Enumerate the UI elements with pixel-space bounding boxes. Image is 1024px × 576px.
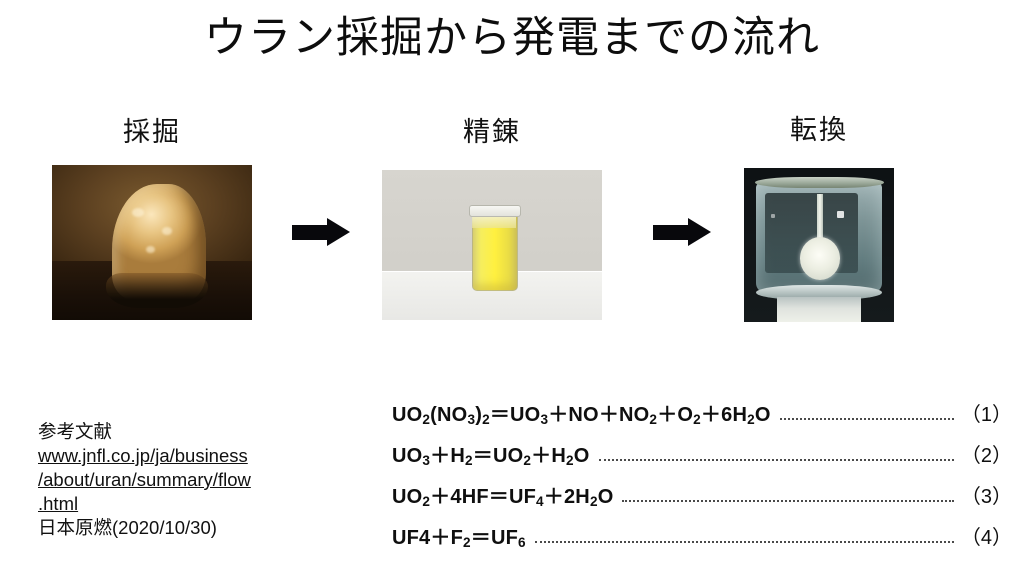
- equation-list: UO2(NO3)2＝UO3＋NO＋NO2＋O2＋6H2O（1）UO3＋H2＝UO…: [392, 398, 1012, 562]
- equation-formula: UO2＋4HF＝UF4＋2H2O: [392, 480, 613, 509]
- equation-row: UF4＋F2＝UF6（4）: [392, 521, 1012, 562]
- right-arrow-icon: [653, 218, 711, 246]
- right-arrow-icon: [292, 218, 350, 246]
- glass-highlight: [771, 214, 775, 218]
- equation-formula: UF4＋F2＝UF6: [392, 521, 526, 550]
- equation-formula: UO2(NO3)2＝UO3＋NO＋NO2＋O2＋6H2O: [392, 398, 771, 427]
- photo-yellowcake-jar: [382, 170, 602, 320]
- ore-highlight-speck: [146, 246, 155, 253]
- equation-number: （3）: [961, 480, 1012, 509]
- page-title: ウラン採掘から発電までの流れ: [0, 12, 1024, 66]
- chamber-top-rim: [755, 177, 884, 188]
- apparatus-base: [777, 297, 861, 322]
- stage-label-conversion: 転換: [744, 108, 894, 147]
- equation-row: UO2(NO3)2＝UO3＋NO＋NO2＋O2＋6H2O（1）: [392, 398, 1012, 439]
- photo-uf6-conversion-apparatus: [744, 168, 894, 322]
- glass-highlight: [837, 211, 844, 218]
- flask-bulb: [800, 237, 841, 280]
- photo-uranium-ore-rock: [52, 165, 252, 320]
- stage-label-refining: 精錬: [392, 110, 592, 149]
- arrow-head: [327, 218, 350, 246]
- equation-row: UO3＋H2＝UO2＋H2O（2）: [392, 439, 1012, 480]
- reference-url-line-3[interactable]: .html: [38, 492, 308, 516]
- arrow-shaft: [653, 225, 689, 240]
- equation-leader-dots: [780, 417, 954, 420]
- ore-rock-shape: [112, 184, 206, 302]
- equation-leader-dots: [622, 499, 953, 502]
- reference-url-line-2[interactable]: /about/uran/summary/flow: [38, 468, 308, 492]
- equation-leader-dots: [599, 458, 954, 461]
- equation-formula: UO3＋H2＝UO2＋H2O: [392, 439, 590, 468]
- arrow-shaft: [292, 225, 328, 240]
- arrow-head: [688, 218, 711, 246]
- references-block: 参考文献 www.jnfl.co.jp/ja/business /about/u…: [38, 420, 308, 540]
- equation-leader-dots: [535, 540, 954, 543]
- reference-url-line-1[interactable]: www.jnfl.co.jp/ja/business: [38, 444, 308, 468]
- slide-canvas: ウラン採掘から発電までの流れ 採掘 精錬 転換: [0, 0, 1024, 576]
- equation-number: （4）: [961, 521, 1012, 550]
- equation-number: （2）: [961, 439, 1012, 468]
- ore-highlight-speck: [162, 227, 172, 235]
- equation-row: UO2＋4HF＝UF4＋2H2O（3）: [392, 480, 1012, 521]
- equation-number: （1）: [961, 398, 1012, 427]
- stage-label-mining: 採掘: [52, 110, 252, 149]
- reference-source: 日本原燃(2020/10/30): [38, 516, 308, 540]
- references-heading: 参考文献: [38, 420, 308, 444]
- jar-lid: [469, 205, 522, 218]
